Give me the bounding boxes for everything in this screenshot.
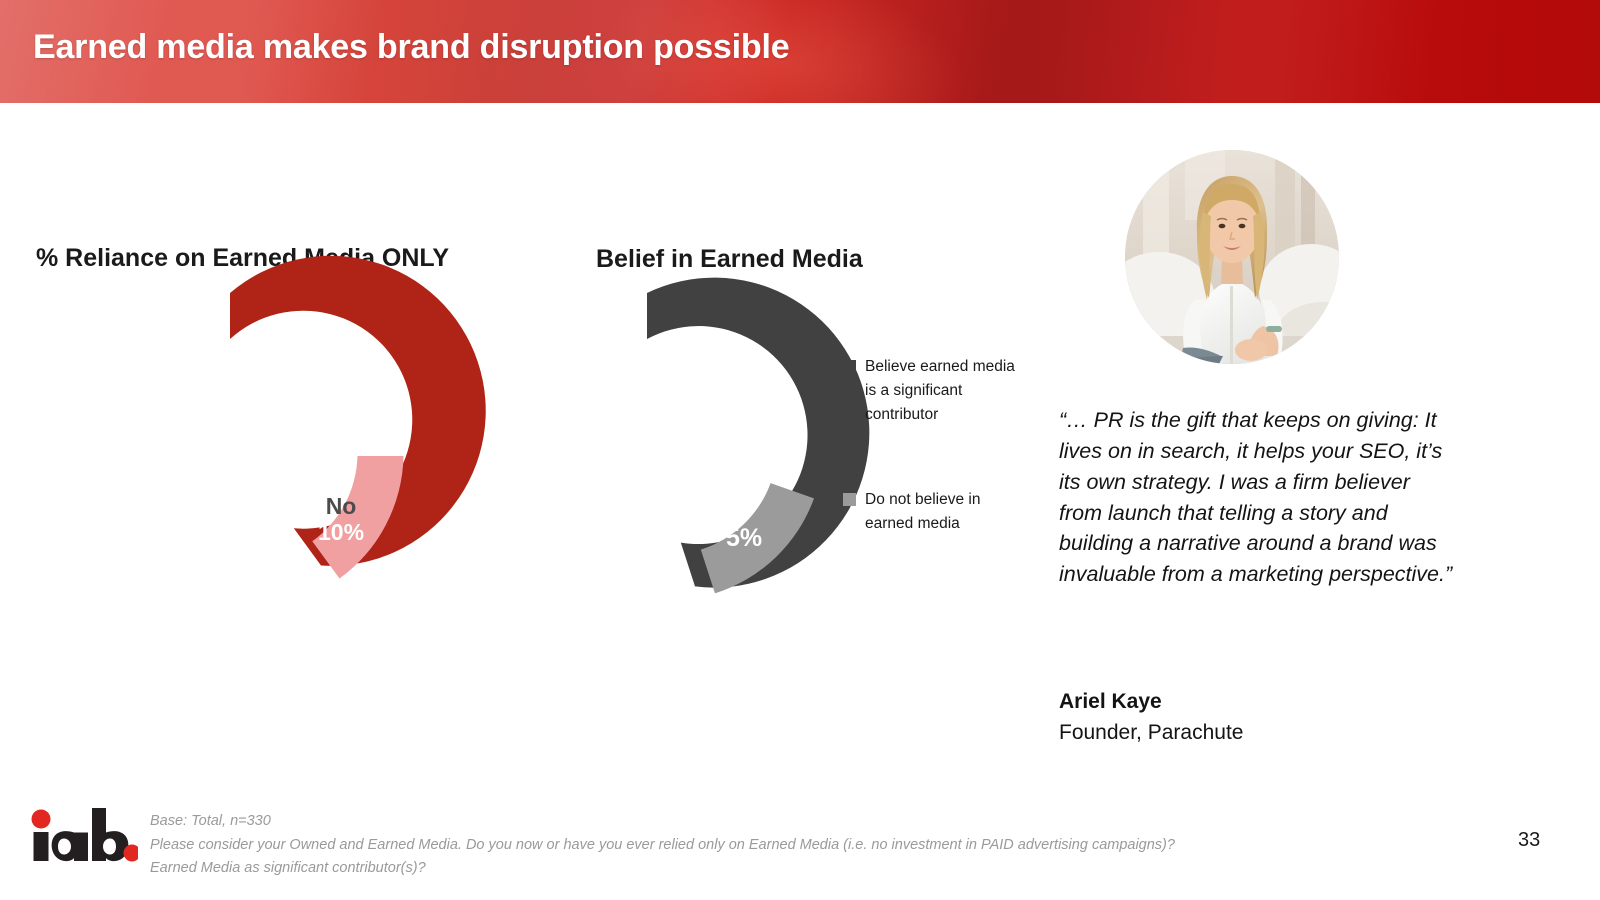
donut-label-yes-text: Yes xyxy=(109,359,149,385)
donut-label-no: No 10% xyxy=(318,494,364,546)
iab-logo xyxy=(30,805,138,863)
quote-text: “… PR is the gift that keeps on giving: … xyxy=(1059,405,1455,590)
page-title: Earned media makes brand disruption poss… xyxy=(33,28,789,67)
page-number: 33 xyxy=(1518,829,1540,852)
quote-author-name: Ariel Kaye xyxy=(1059,690,1162,714)
slide-header-banner: Earned media makes brand disruption poss… xyxy=(0,0,1600,103)
donut-chart-belief xyxy=(492,288,822,608)
donut-label-not-believe-value: 5% xyxy=(726,524,762,552)
chart-title-belief: Belief in Earned Media xyxy=(596,245,863,274)
legend-swatch-icon xyxy=(843,360,856,373)
footnote-line: Please consider your Owned and Earned Me… xyxy=(150,834,1175,858)
portrait-photo-illustration xyxy=(1125,150,1339,364)
legend-item-label: Do not believe in earned media xyxy=(865,488,1018,536)
legend-item-not-believe: Do not believe in earned media xyxy=(843,488,1018,536)
donut-chart-reliance xyxy=(75,288,405,608)
footnote-line: Base: Total, n=330 xyxy=(150,810,1175,834)
chart-legend: Believe earned media is a significant co… xyxy=(843,355,1018,536)
donut-label-yes: Yes 90% xyxy=(106,360,152,412)
donut-chart-belief-svg xyxy=(492,288,822,608)
legend-swatch-icon xyxy=(843,493,856,506)
donut-label-no-value: 10% xyxy=(318,520,364,546)
iab-logo-icon xyxy=(30,805,138,863)
quote-author-role: Founder, Parachute xyxy=(1059,721,1243,745)
donut-label-no-text: No xyxy=(318,494,364,520)
donut-chart-reliance-svg xyxy=(75,288,405,608)
slide: Earned media makes brand disruption poss… xyxy=(0,0,1600,900)
legend-item-believe: Believe earned media is a significant co… xyxy=(843,355,1018,428)
donut-label-believe-value: 95% xyxy=(537,361,587,389)
legend-item-label: Believe earned media is a significant co… xyxy=(865,355,1018,428)
footnote-line: Earned Media as significant contributor(… xyxy=(150,857,1175,881)
avatar xyxy=(1125,150,1339,364)
footnotes: Base: Total, n=330 Please consider your … xyxy=(150,810,1175,881)
donut-label-yes-value: 90% xyxy=(106,385,152,411)
